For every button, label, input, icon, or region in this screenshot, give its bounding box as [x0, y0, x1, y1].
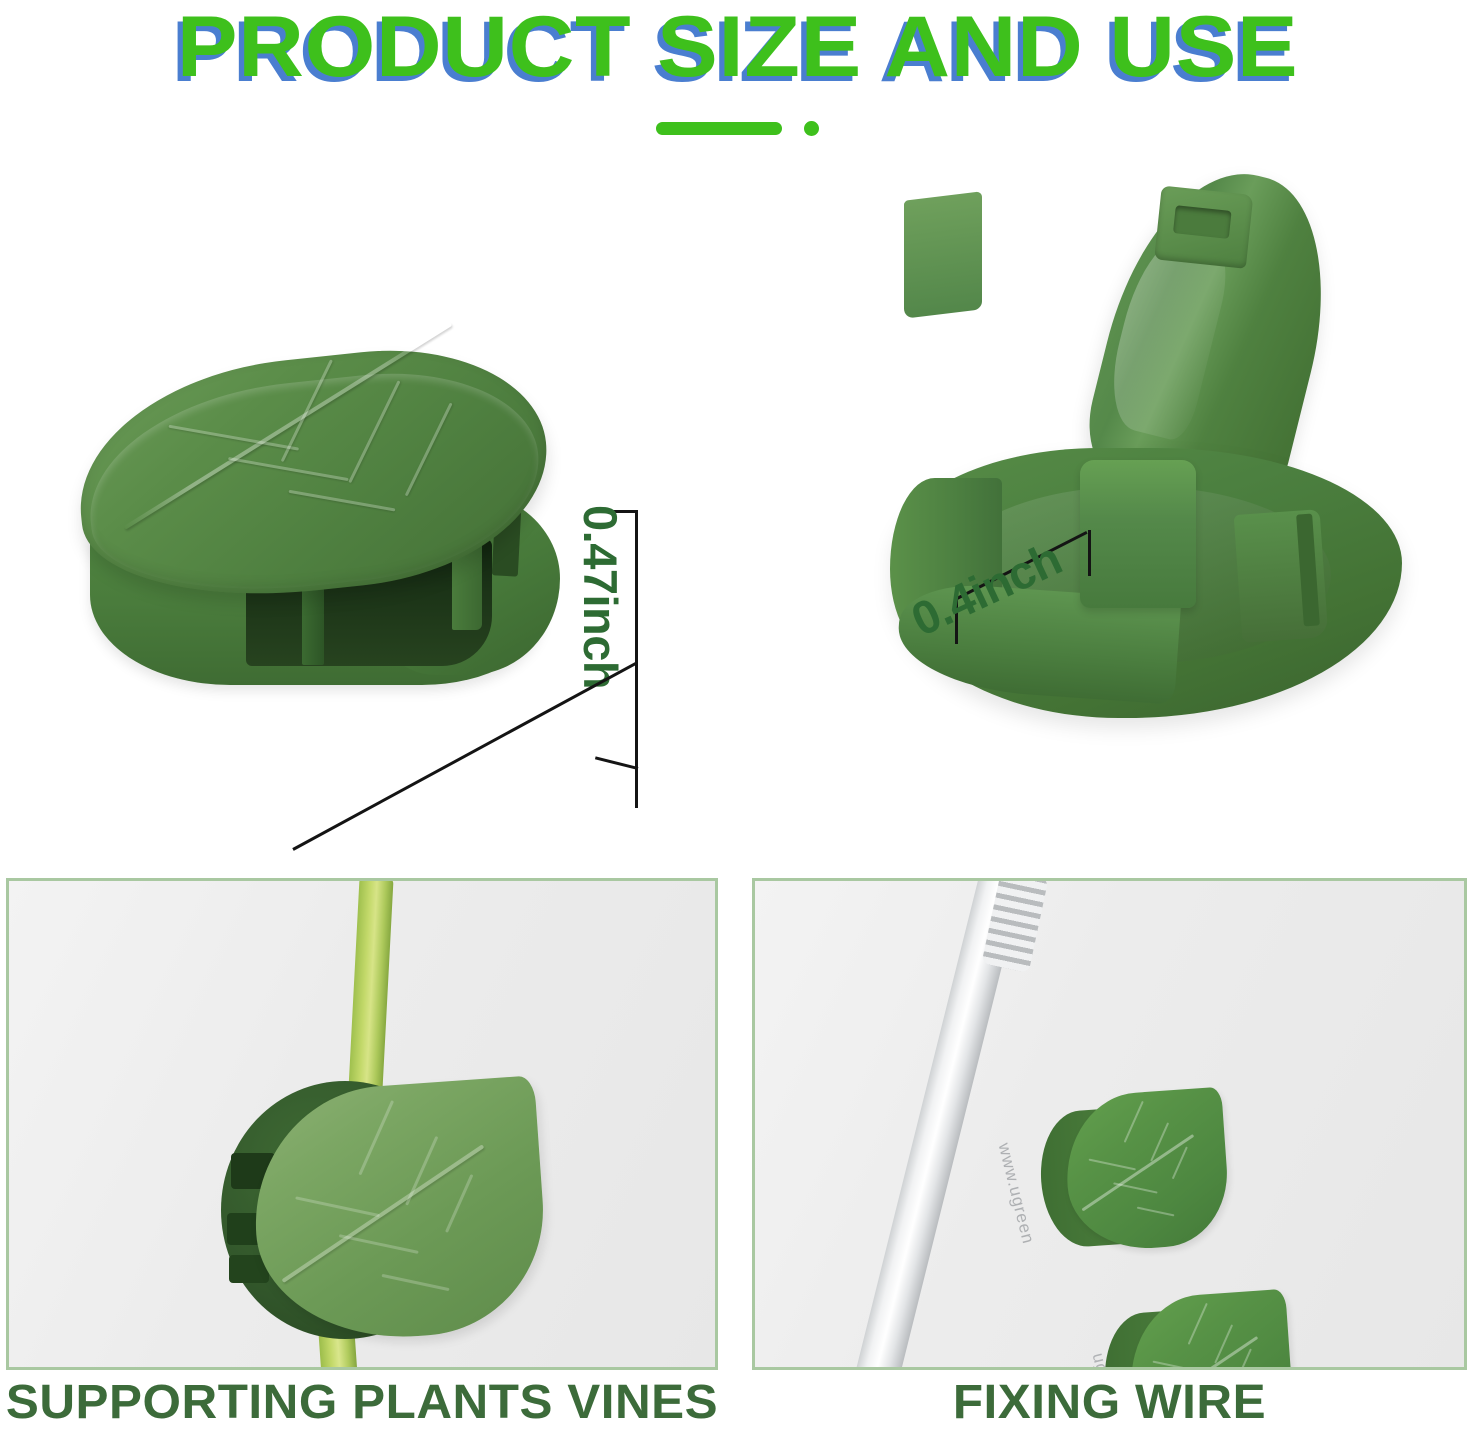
use-case-panel-fixing-wire: www.ugreen ugreen: [752, 878, 1467, 1374]
use-case-panel-supporting-plants-vines: SUPPORTING PLANTS VINES: [6, 878, 718, 1374]
leaf-vein: [445, 1174, 474, 1233]
leaf-cover-icon: [1125, 1289, 1295, 1370]
title-divider: [0, 118, 1475, 138]
flap-latch-tab: [1154, 186, 1253, 269]
leaf-vein: [359, 1101, 395, 1176]
flap-latch-slot: [1173, 205, 1232, 239]
leaf-vein: [1124, 1101, 1144, 1143]
product-showcase: 0.47inch 1.25inch 0.4inch: [0, 160, 1475, 870]
leaf-vein: [406, 1136, 439, 1206]
leaf-vein: [1188, 1303, 1208, 1345]
use-case-panels: SUPPORTING PLANTS VINES www.ugreen ugree…: [0, 878, 1475, 1416]
leaf-vein: [1172, 1146, 1188, 1179]
product-image-open-clip: [880, 160, 1410, 760]
leaf-vein: [1089, 1158, 1136, 1170]
dimension-line-height: [635, 510, 638, 770]
use-case-caption: SUPPORTING PLANTS VINES: [0, 1375, 729, 1431]
divider-dot-icon: [804, 121, 819, 136]
dimension-tick-depth-end: [1088, 530, 1091, 576]
divider-bar-icon: [656, 122, 782, 135]
clip-left-wall-face: [904, 191, 982, 319]
use-case-photo-cable: www.ugreen ugreen: [752, 878, 1467, 1370]
header: PRODUCT SIZE AND USE: [0, 0, 1475, 160]
leaf-vein: [1113, 1182, 1157, 1193]
clip-center-post: [1080, 460, 1196, 608]
dimension-label-height: 0.47inch: [573, 505, 628, 775]
wire-clip-lower: [1100, 1289, 1297, 1370]
leaf-vein: [338, 1234, 417, 1254]
leaf-vein: [295, 1196, 380, 1217]
leaf-vein-main: [1081, 1134, 1194, 1212]
dimension-tick-length-end: [635, 754, 638, 808]
leaf-vein: [1137, 1206, 1175, 1216]
leaf-vein: [1153, 1360, 1200, 1370]
wire-clip-upper: [1036, 1087, 1233, 1264]
page-title: PRODUCT SIZE AND USE: [0, 0, 1475, 94]
product-image-closed-clip: [70, 340, 570, 740]
leaf-vein: [381, 1273, 449, 1290]
use-case-caption: FIXING WIRE: [741, 1375, 1475, 1431]
use-case-photo-plant-stem: [6, 878, 718, 1370]
